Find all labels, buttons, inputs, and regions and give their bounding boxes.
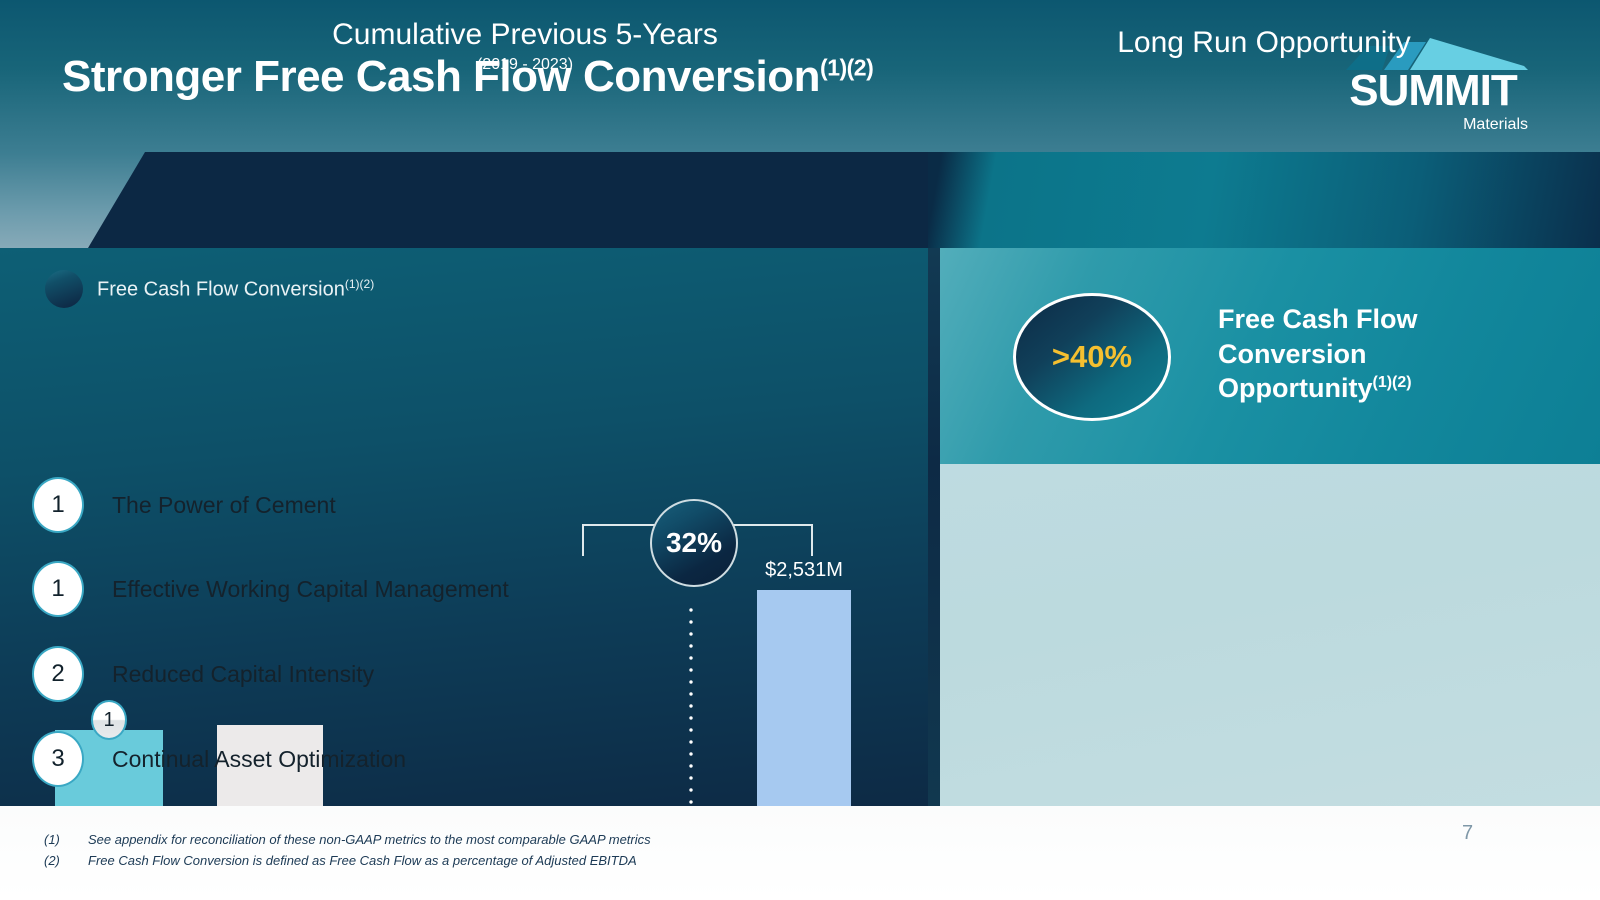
driver-number-badge: 3 xyxy=(32,731,84,787)
opportunity-footnote-marks: (1)(2) xyxy=(1372,374,1411,391)
value-label-adjusted-ebitda: $2,531M xyxy=(730,559,878,582)
footnote-mark: (1) xyxy=(44,832,60,847)
list-item[interactable]: 1 The Power of Cement xyxy=(0,477,672,533)
opportunity-heading-line2: Conversion xyxy=(1218,339,1367,369)
page-number: 7 xyxy=(1462,822,1473,845)
footnote-text: Free Cash Flow Conversion is defined as … xyxy=(88,853,637,868)
driver-label: Reduced Capital Intensity xyxy=(112,661,374,688)
driver-number-badge: 1 xyxy=(32,561,84,617)
driver-label: The Power of Cement xyxy=(112,492,336,519)
right-section-title: Long Run Opportunity xyxy=(928,26,1600,60)
opportunity-heading: Free Cash Flow Conversion Opportunity(1)… xyxy=(1218,302,1598,406)
opportunity-heading-line1: Free Cash Flow xyxy=(1218,304,1418,334)
footnote-mark: (2) xyxy=(44,853,60,868)
driver-number-badge: 2 xyxy=(32,646,84,702)
opportunity-percent-badge: >40% xyxy=(1013,293,1171,421)
list-item[interactable]: 3 Continual Asset Optimization xyxy=(0,731,672,787)
drivers-panel-edge xyxy=(928,464,940,806)
list-item[interactable]: 2 Reduced Capital Intensity xyxy=(0,646,672,702)
left-section-title: Cumulative Previous 5-Years xyxy=(145,18,905,52)
opportunity-heading-line3: Opportunity xyxy=(1218,373,1372,403)
driver-number-badge: 1 xyxy=(32,477,84,533)
driver-label: Effective Working Capital Management xyxy=(112,576,509,603)
slide-root: Stronger Free Cash Flow Conversion(1)(2)… xyxy=(0,0,1600,900)
footnote-text: See appendix for reconciliation of these… xyxy=(88,832,651,847)
logo-subtitle: Materials xyxy=(1338,116,1528,134)
driver-label: Continual Asset Optimization xyxy=(112,746,406,773)
logo-wordmark: SUMMIT xyxy=(1338,69,1528,113)
right-section-band xyxy=(928,152,1600,248)
slide-footer: (1) See appendix for reconciliation of t… xyxy=(0,806,1600,900)
bracket-right-tick xyxy=(811,524,813,556)
left-section-subtitle: (2019 - 2023) xyxy=(145,56,905,74)
list-item[interactable]: 1 Effective Working Capital Management xyxy=(0,561,672,617)
left-section-band xyxy=(0,152,928,248)
opportunity-panel-edge xyxy=(928,248,940,464)
drivers-panel xyxy=(928,464,1600,806)
